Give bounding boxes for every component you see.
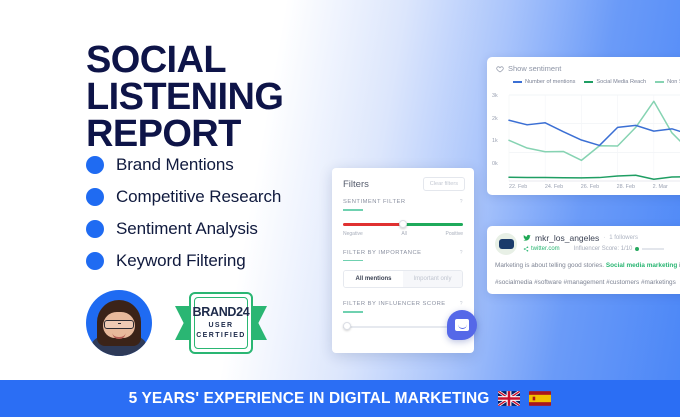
feature-list: Brand Mentions Competitive Research Sent… bbox=[86, 150, 281, 278]
poster-canvas: Social Listening Report Brand Mentions C… bbox=[0, 0, 680, 417]
mention-text-keyword: Social media marketing bbox=[606, 262, 677, 269]
x-tick: 22. Feb bbox=[509, 184, 527, 190]
list-item-label: Competitive Research bbox=[116, 187, 281, 207]
bullet-dot-icon bbox=[86, 188, 104, 206]
list-item-label: Keyword Filtering bbox=[116, 251, 246, 271]
mention-avatar bbox=[495, 233, 517, 255]
bullet-dot-icon bbox=[86, 156, 104, 174]
list-item: Keyword Filtering bbox=[86, 246, 281, 276]
chat-bubble-icon bbox=[455, 319, 469, 331]
list-item: Brand Mentions bbox=[86, 150, 281, 180]
influencer-slider-track bbox=[343, 326, 463, 328]
show-sentiment-toggle[interactable]: Show sentiment bbox=[487, 57, 680, 77]
list-item: Competitive Research bbox=[86, 182, 281, 212]
sentiment-filter-label: SENTIMENT FILTER bbox=[343, 199, 406, 205]
mention-influencer-score-label: Influencer Score: 1/10 bbox=[574, 246, 633, 252]
list-item-label: Brand Mentions bbox=[116, 155, 234, 175]
legend-swatch-icon bbox=[513, 81, 522, 83]
mention-card[interactable]: mkr_los_angeles · 1 followers twitter.co… bbox=[487, 226, 680, 294]
mention-hashtags: #socialmedia #software #management #cust… bbox=[487, 272, 680, 289]
x-tick: 2. Mar bbox=[653, 184, 668, 190]
bullet-dot-icon bbox=[86, 220, 104, 238]
score-dot-icon bbox=[635, 247, 639, 251]
share-icon bbox=[523, 246, 529, 252]
badge-core: BRAND24 USER CERTIFIED bbox=[189, 292, 253, 354]
mention-text-lead: Marketing is about telling good stories. bbox=[495, 262, 606, 269]
section-underline bbox=[343, 311, 363, 313]
section-underline bbox=[343, 209, 363, 211]
chart-series-line bbox=[509, 175, 680, 179]
badge-brand-label: BRAND24 bbox=[193, 305, 250, 319]
legend-label: Social Media Reach bbox=[596, 79, 646, 85]
badge-sub-label: USER CERTIFIED bbox=[196, 321, 246, 342]
mention-source[interactable]: twitter.com bbox=[523, 246, 560, 252]
sentiment-slider-positive-track bbox=[403, 223, 463, 226]
sentiment-slider[interactable] bbox=[343, 222, 463, 227]
importance-filter-label: FILTER BY IMPORTANCE bbox=[343, 250, 422, 256]
avatar-glasses-icon bbox=[104, 320, 134, 329]
bottom-banner: 5 YEARS' EXPERIENCE IN DIGITAL MARKETING bbox=[0, 380, 680, 417]
question-mark-icon[interactable]: ? bbox=[460, 250, 463, 256]
mention-followers: 1 followers bbox=[609, 235, 638, 241]
importance-segmented-control[interactable]: All mentions Important only bbox=[343, 270, 463, 288]
mention-stats-row: twitter.com Influencer Score: 1/10 bbox=[523, 246, 680, 252]
legend-swatch-icon bbox=[655, 81, 664, 83]
filters-title: Filters bbox=[343, 179, 369, 190]
legend-label: Non Soc bbox=[667, 79, 680, 85]
badge-sub-line1: USER bbox=[196, 321, 246, 332]
mention-header: mkr_los_angeles · 1 followers twitter.co… bbox=[487, 226, 680, 255]
filters-header: Filters Clear filters bbox=[332, 168, 474, 199]
avatar bbox=[86, 290, 152, 356]
badge-sub-line2: CERTIFIED bbox=[196, 331, 246, 342]
sentiment-filter-label-row: SENTIMENT FILTER ? bbox=[343, 199, 463, 205]
page-title-line1: Social Listening bbox=[86, 39, 283, 118]
segment-all-mentions[interactable]: All mentions bbox=[344, 271, 403, 287]
sentiment-label-positive: Positive bbox=[445, 231, 463, 237]
mention-source-label: twitter.com bbox=[531, 246, 560, 252]
list-item: Sentiment Analysis bbox=[86, 214, 281, 244]
page-title-line2: Report bbox=[86, 116, 416, 153]
bullet-dot-icon bbox=[86, 252, 104, 270]
sentiment-label-all: All bbox=[401, 231, 407, 237]
mention-avatar-glyph bbox=[499, 239, 514, 249]
legend-label: Number of mentions bbox=[525, 79, 575, 85]
influencer-slider[interactable] bbox=[343, 325, 463, 329]
influencer-filter-label-row: FILTER BY INFLUENCER SCORE ? bbox=[343, 301, 463, 307]
mention-identity-row: mkr_los_angeles · 1 followers bbox=[523, 233, 680, 243]
banner-text: 5 YEARS' EXPERIENCE IN DIGITAL MARKETING bbox=[129, 390, 490, 408]
chart-legend: Number of mentions Social Media Reach No… bbox=[487, 77, 680, 85]
legend-item-mentions[interactable]: Number of mentions bbox=[513, 79, 575, 85]
legend-item-social-reach[interactable]: Social Media Reach bbox=[584, 79, 646, 85]
heart-outline-icon bbox=[496, 65, 504, 73]
chat-widget-button[interactable] bbox=[447, 310, 477, 340]
sentiment-filter-section: SENTIMENT FILTER ? Negative All Positive bbox=[332, 199, 474, 237]
sentiment-slider-handle[interactable] bbox=[399, 220, 407, 228]
sentiment-slider-negative-track bbox=[343, 223, 403, 226]
influencer-filter-label: FILTER BY INFLUENCER SCORE bbox=[343, 301, 446, 307]
segment-important-only[interactable]: Important only bbox=[403, 271, 462, 287]
mention-username[interactable]: mkr_los_angeles bbox=[535, 233, 599, 243]
mention-meta: mkr_los_angeles · 1 followers twitter.co… bbox=[523, 233, 680, 255]
score-bar bbox=[642, 248, 664, 250]
x-tick: 26. Feb bbox=[581, 184, 599, 190]
page-title: Social Listening Report bbox=[86, 42, 416, 154]
section-underline bbox=[343, 260, 363, 262]
uk-flag-icon bbox=[498, 391, 520, 406]
mention-influencer-score: Influencer Score: 1/10 bbox=[574, 246, 665, 252]
spain-flag-icon bbox=[529, 391, 551, 406]
chart-card: Show sentiment Number of mentions Social… bbox=[487, 57, 680, 195]
clear-filters-button[interactable]: Clear filters bbox=[423, 177, 465, 191]
influencer-slider-handle[interactable] bbox=[343, 322, 351, 330]
show-sentiment-label: Show sentiment bbox=[508, 64, 561, 73]
certification-badge: BRAND24 USER CERTIFIED bbox=[175, 292, 267, 354]
chart-x-axis: 22. Feb 24. Feb 26. Feb 28. Feb 2. Mar 4… bbox=[509, 184, 680, 190]
x-tick: 28. Feb bbox=[617, 184, 635, 190]
question-mark-icon[interactable]: ? bbox=[460, 301, 463, 307]
sentiment-slider-legend: Negative All Positive bbox=[343, 231, 463, 237]
mention-body-text: Marketing is about telling good stories.… bbox=[487, 255, 680, 272]
importance-filter-section: FILTER BY IMPORTANCE ? All mentions Impo… bbox=[332, 250, 474, 289]
x-tick: 24. Feb bbox=[545, 184, 563, 190]
question-mark-icon[interactable]: ? bbox=[460, 199, 463, 205]
mention-separator: · bbox=[603, 235, 605, 241]
legend-item-non-social-reach[interactable]: Non Soc bbox=[655, 79, 680, 85]
chart-plot bbox=[487, 91, 680, 195]
twitter-bird-icon bbox=[523, 234, 531, 242]
list-item-label: Sentiment Analysis bbox=[116, 219, 258, 239]
legend-swatch-icon bbox=[584, 81, 593, 83]
sentiment-label-negative: Negative bbox=[343, 231, 363, 237]
importance-filter-label-row: FILTER BY IMPORTANCE ? bbox=[343, 250, 463, 256]
